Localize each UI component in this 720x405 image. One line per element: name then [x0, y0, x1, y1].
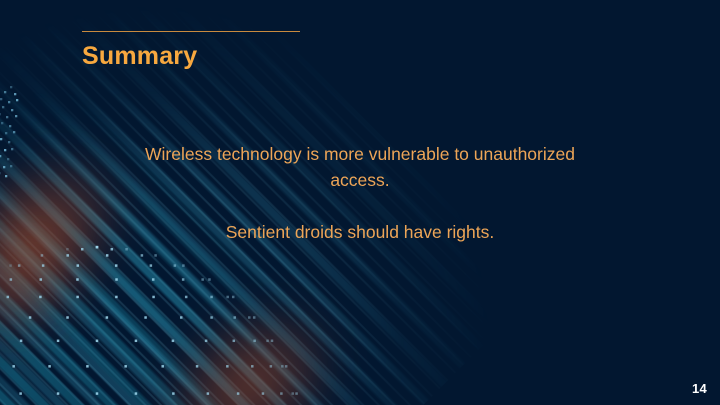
presentation-slide: Summary Wireless technology is more vuln… — [0, 0, 720, 405]
slide-body-text: Wireless technology is more vulnerable t… — [120, 142, 600, 246]
page-title: Summary — [82, 41, 197, 71]
slide-content: Summary Wireless technology is more vuln… — [0, 0, 720, 405]
page-number: 14 — [692, 381, 707, 396]
body-line-2: Sentient droids should have rights. — [120, 220, 600, 246]
title-divider-rule — [82, 31, 300, 32]
body-line-1: Wireless technology is more vulnerable t… — [120, 142, 600, 194]
